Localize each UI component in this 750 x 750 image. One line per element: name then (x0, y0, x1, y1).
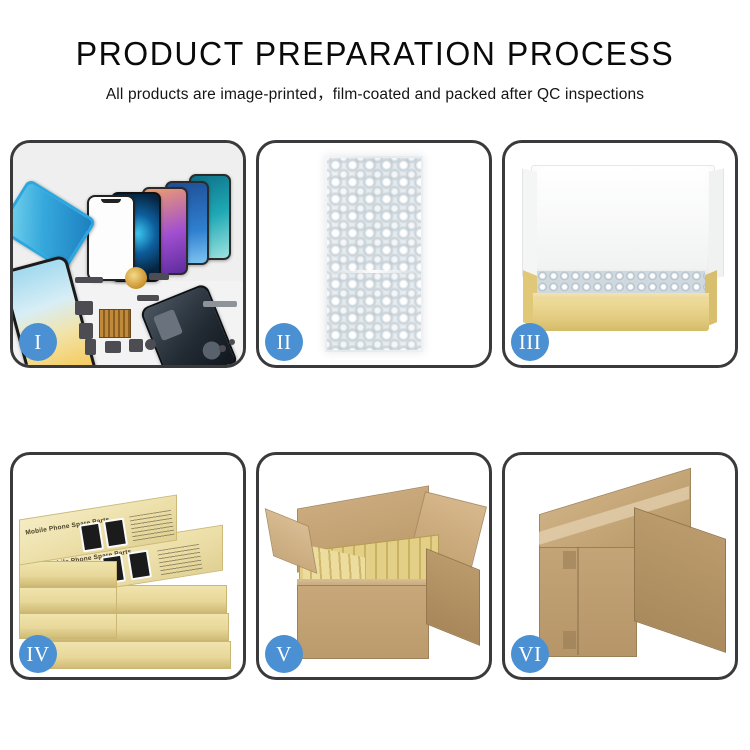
step-3-image: III (505, 143, 735, 365)
step-1-image: I (13, 143, 243, 365)
carton-notch-top (563, 551, 576, 569)
spare-part-tool (203, 301, 237, 307)
spare-part-connector-grid (99, 309, 131, 338)
spare-part-bracket-2 (79, 323, 93, 339)
retail-box-1-photo-a (79, 522, 104, 553)
process-step-1: I (10, 140, 246, 368)
spare-part-speaker (129, 339, 143, 352)
step-badge-6: VI (511, 635, 549, 673)
header: PRODUCT PREPARATION PROCESS All products… (0, 0, 750, 104)
step-badge-5: V (265, 635, 303, 673)
step-6-image: VI (505, 455, 735, 677)
retail-box-5 (47, 641, 231, 669)
retail-box-2-photo-b (127, 550, 152, 581)
step-badge-2: II (265, 323, 303, 361)
carton-seam (577, 547, 579, 655)
spare-part-flex-2 (149, 273, 169, 280)
step-5-image: V (259, 455, 489, 677)
process-step-3: III (502, 140, 738, 368)
page-title: PRODUCT PREPARATION PROCESS (11, 34, 739, 74)
spare-part-screw-1 (219, 345, 226, 352)
carton-right-panel (634, 507, 726, 653)
process-step-5: V (256, 452, 492, 680)
carton-front-panel (539, 547, 637, 657)
retail-box-back-1 (19, 561, 117, 587)
process-step-6: VI (502, 452, 738, 680)
step-badge-1: I (19, 323, 57, 361)
spare-part-sim-tray (85, 339, 96, 355)
retail-box-back-2 (19, 587, 117, 613)
carton-notch-bottom (563, 631, 576, 649)
spare-part-bracket-1 (75, 301, 93, 315)
step-badge-3: III (511, 323, 549, 361)
spare-part-coin (125, 267, 147, 289)
carton-front-panel (297, 585, 429, 659)
step-badge-4: IV (19, 635, 57, 673)
phone-white-bezel-screen (87, 195, 135, 281)
step-4-image: Mobile Phone Spare Parts Mobile Phone Sp… (13, 455, 243, 677)
process-step-2: II (256, 140, 492, 368)
bubble-wrap-pouch (325, 156, 423, 352)
step-2-image: II (259, 143, 489, 365)
spare-part-camera (105, 341, 121, 353)
spare-part-screw-2 (229, 339, 235, 345)
process-step-grid: I II III (10, 140, 740, 680)
spare-part-button (145, 339, 156, 350)
spare-part-flex-3 (137, 295, 159, 301)
page-subtitle: All products are image-printed，film-coat… (0, 82, 750, 104)
process-step-4: Mobile Phone Spare Parts Mobile Phone Sp… (10, 452, 246, 680)
spare-part-flex-1 (75, 277, 103, 283)
retail-box-1-photo-b (103, 518, 128, 549)
box-front-panel (533, 299, 709, 331)
foam-sheet (537, 203, 707, 269)
